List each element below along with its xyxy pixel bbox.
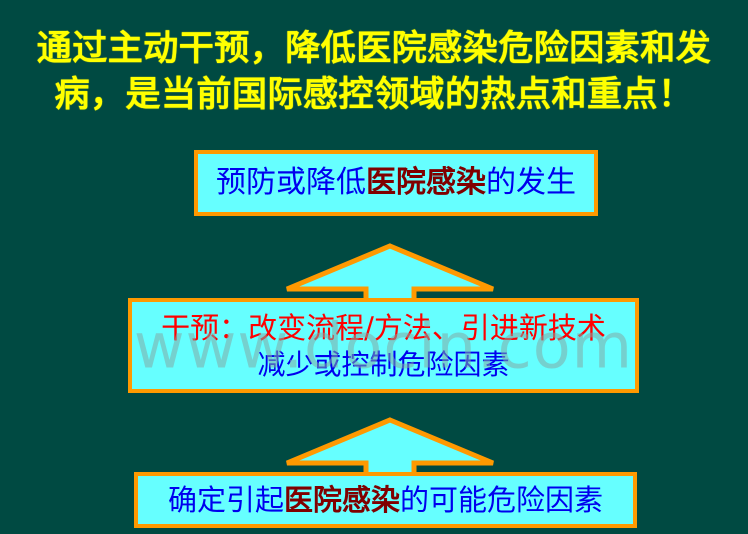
risk-factor-text-emphasis: 医院感染 (284, 483, 400, 517)
intervention-box-line-2: 减少或控制危险因素 (257, 349, 509, 380)
title-line-2: 病，是当前国际感控领域的热点和重点！ (0, 72, 748, 118)
outcome-text-prefix: 预防或降低 (216, 165, 366, 200)
risk-factor-box: 确定引起医院感染的可能危险因素 (134, 472, 637, 528)
arrow-up-shape (284, 243, 496, 305)
title-line-1: 通过主动干预，降低医院感染危险因素和发 (0, 26, 748, 72)
outcome-text-emphasis: 医院感染 (366, 165, 486, 200)
arrow-up-polygon (287, 246, 493, 302)
outcome-text-suffix: 的发生 (486, 165, 576, 200)
slide-canvas: 通过主动干预，降低医院感染危险因素和发 病，是当前国际感控领域的热点和重点！ 预… (0, 0, 748, 534)
intervention-text-primary: 干预：改变流程/方法、引进新技术 (161, 311, 606, 345)
risk-factor-text-prefix: 确定引起 (168, 483, 284, 517)
intervention-box-line-1: 干预：改变流程/方法、引进新技术 (161, 312, 606, 344)
arrow-up-icon (284, 243, 496, 305)
outcome-box-line: 预防或降低医院感染的发生 (216, 166, 576, 200)
arrow-up-icon (284, 417, 496, 479)
slide-title: 通过主动干预，降低医院感染危险因素和发 病，是当前国际感控领域的热点和重点！ (0, 26, 748, 118)
outcome-box: 预防或降低医院感染的发生 (194, 150, 598, 216)
intervention-text-secondary: 减少或控制危险因素 (257, 348, 509, 381)
arrow-up-polygon (287, 420, 493, 476)
intervention-box: 干预：改变流程/方法、引进新技术 减少或控制危险因素 (128, 298, 639, 393)
risk-factor-text-suffix: 的可能危险因素 (400, 483, 603, 517)
risk-factor-box-line: 确定引起医院感染的可能危险因素 (168, 484, 603, 516)
arrow-up-shape (284, 417, 496, 479)
